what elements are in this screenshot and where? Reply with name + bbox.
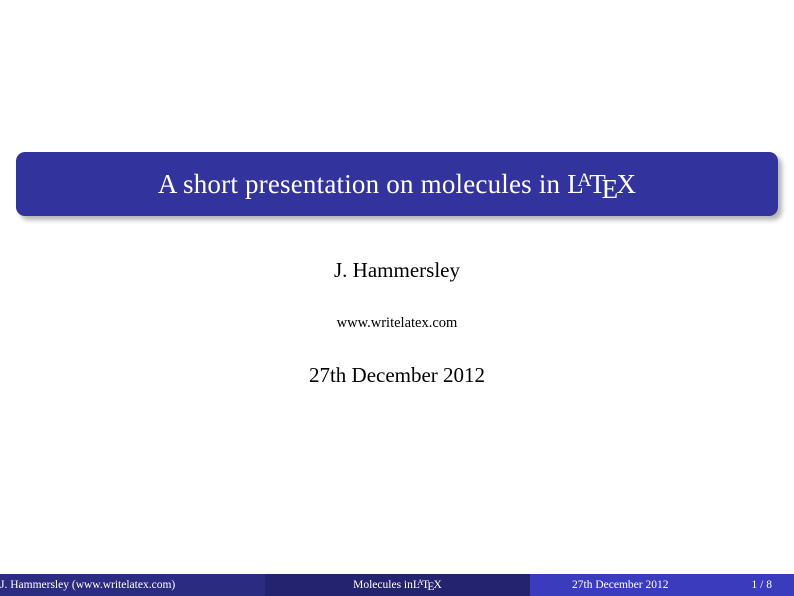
footline-latex-logo-x: X bbox=[434, 574, 442, 596]
footline-latex-logo: LATEX bbox=[413, 574, 442, 596]
presentation-date: 27th December 2012 bbox=[0, 363, 794, 388]
slide-canvas: A short presentation on molecules in LAT… bbox=[0, 0, 794, 596]
latex-logo: LATEX bbox=[567, 171, 636, 198]
footline-date-text: 27th December 2012 bbox=[572, 574, 668, 596]
latex-logo-a: A bbox=[577, 170, 591, 191]
institute-url: www.writelatex.com bbox=[0, 315, 794, 332]
latex-logo-e: E bbox=[602, 174, 619, 204]
footline-title-prefix: Molecules in bbox=[353, 574, 413, 596]
footline-author-segment: J. Hammersley (www.writelatex.com) bbox=[0, 574, 265, 596]
footline-latex-logo-e: E bbox=[427, 576, 434, 596]
footline-page-number: 1 / 8 bbox=[752, 574, 772, 596]
footline: J. Hammersley (www.writelatex.com) Molec… bbox=[0, 574, 794, 596]
author-name: J. Hammersley bbox=[0, 258, 794, 283]
title-text-prefix: A short presentation on molecules in bbox=[158, 169, 567, 199]
title-block: A short presentation on molecules in LAT… bbox=[16, 152, 778, 216]
page-title: A short presentation on molecules in LAT… bbox=[158, 171, 636, 198]
title-meta-block: J. Hammersley www.writelatex.com 27th De… bbox=[0, 258, 794, 388]
footline-author-text: J. Hammersley (www.writelatex.com) bbox=[0, 574, 175, 596]
footline-title-text: Molecules in LATEX bbox=[353, 574, 442, 596]
footline-date-segment: 27th December 2012 1 / 8 bbox=[530, 574, 794, 596]
footline-latex-logo-a: A bbox=[417, 574, 423, 594]
latex-logo-x: X bbox=[616, 169, 636, 199]
footline-title-segment: Molecules in LATEX bbox=[265, 574, 530, 596]
